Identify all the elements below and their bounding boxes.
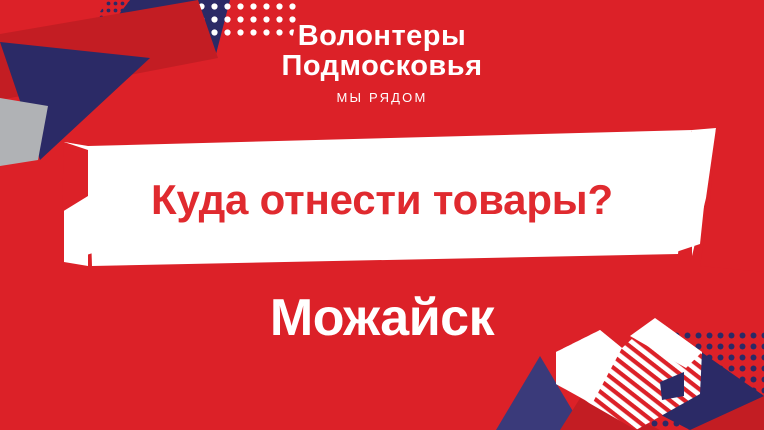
decorative-background: [0, 0, 764, 430]
ribbon-body: [88, 130, 692, 266]
white-dot-pattern-topleft: [196, 0, 300, 42]
ribbon-banner: [64, 128, 716, 266]
poster-canvas: Волонтеры Подмосковья МЫ РЯДОМ Куда отне…: [0, 0, 764, 430]
